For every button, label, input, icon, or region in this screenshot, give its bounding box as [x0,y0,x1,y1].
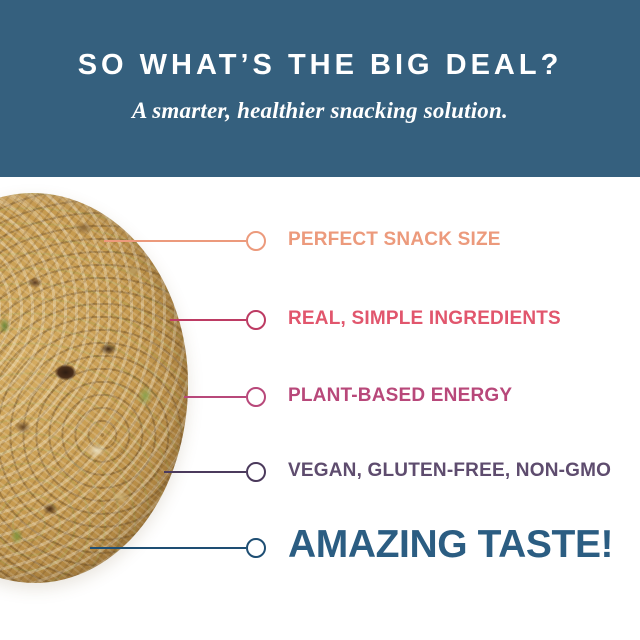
callout-line-4 [164,471,246,473]
callout-label-2: REAL, SIMPLE INGREDIENTS [288,308,561,330]
callout-line-2 [170,319,246,321]
callout-label-1: PERFECT SNACK SIZE [288,229,501,251]
callout-dot-4 [246,462,266,482]
page-title: SO WHAT’S THE BIG DEAL? [0,48,640,82]
callout-line-3 [184,396,246,398]
callout-label-3: PLANT-BASED ENERGY [288,385,512,407]
callout-label-4: VEGAN, GLUTEN-FREE, NON-GMO [288,460,611,482]
callout-dot-2 [246,310,266,330]
product-photo [0,177,230,640]
infographic-page: SO WHAT’S THE BIG DEAL? A smarter, healt… [0,0,640,640]
callout-dot-3 [246,387,266,407]
header-banner: SO WHAT’S THE BIG DEAL? A smarter, healt… [0,0,640,177]
callout-line-5 [90,547,246,549]
granola-cookie-image [0,193,188,583]
callout-line-1 [104,240,246,242]
callout-label-5: AMAZING TASTE! [288,523,613,567]
page-subtitle: A smarter, healthier snacking solution. [0,97,640,125]
callout-dot-1 [246,231,266,251]
callout-dot-5 [246,538,266,558]
